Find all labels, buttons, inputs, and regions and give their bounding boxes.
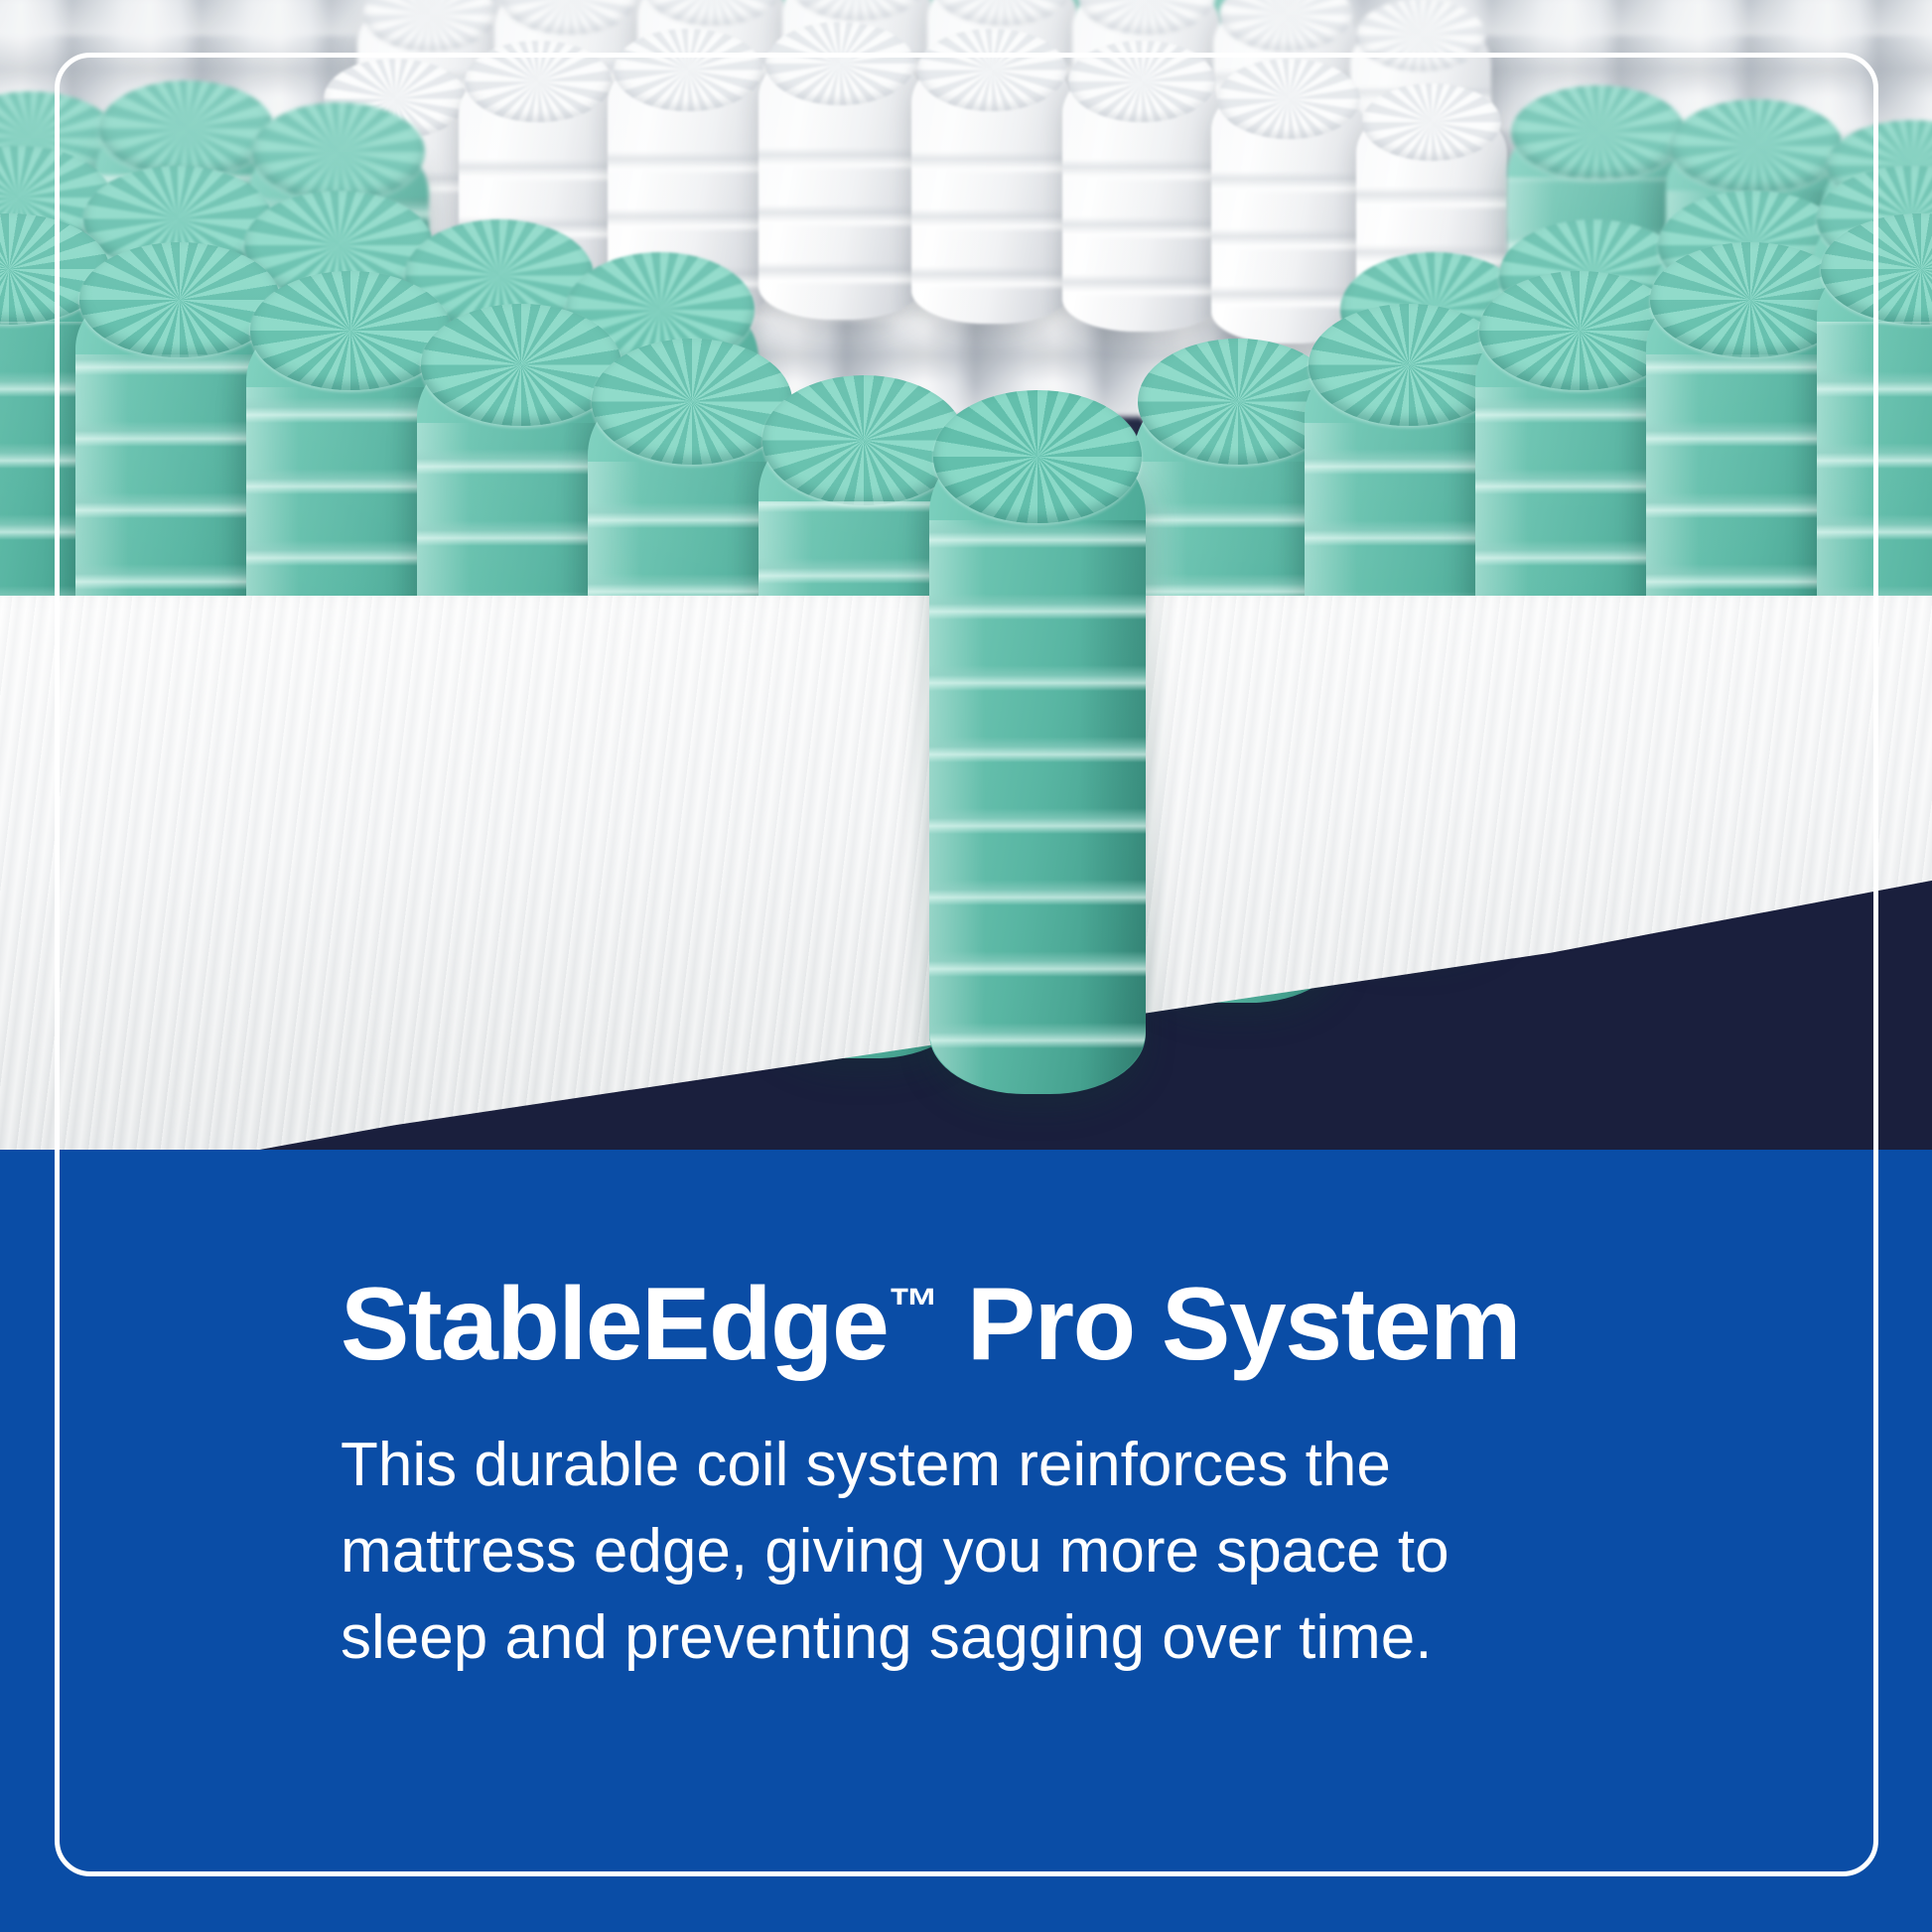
inner-coil xyxy=(759,42,921,320)
hero-image xyxy=(0,0,1932,1150)
caption-panel: StableEdge™ Pro System This durable coil… xyxy=(0,1150,1932,1932)
caption-content: StableEdge™ Pro System This durable coil… xyxy=(341,1271,1651,1682)
inner-coil xyxy=(911,48,1072,324)
feature-title-main: StableEdge xyxy=(341,1267,888,1382)
product-feature-card: StableEdge™ Pro System This durable coil… xyxy=(0,0,1932,1932)
feature-description: This durable coil system reinforces the … xyxy=(341,1423,1452,1681)
trademark-symbol: ™ xyxy=(888,1278,939,1335)
inner-coil xyxy=(1062,60,1221,332)
edge-coil-apex xyxy=(929,427,1146,1094)
feature-title: StableEdge™ Pro System xyxy=(341,1271,1651,1379)
feature-title-suffix: Pro System xyxy=(939,1267,1520,1382)
